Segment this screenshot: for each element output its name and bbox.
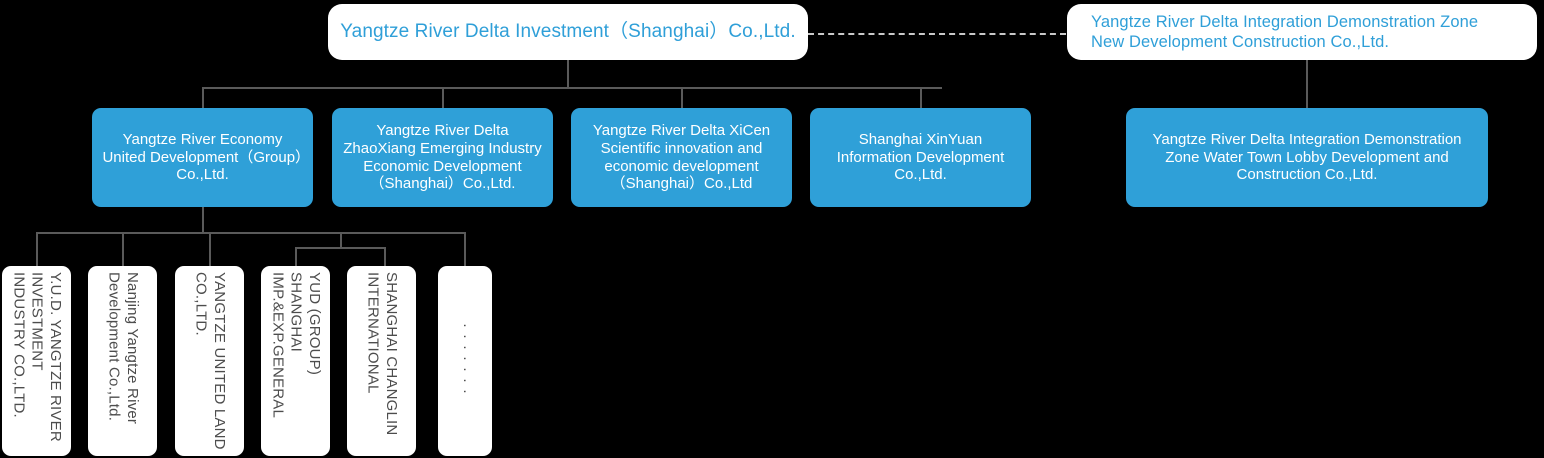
connector-drop-level2-2 [442, 87, 444, 108]
level3-node-more-ellipsis[interactable]: ······· [438, 266, 492, 456]
level2-node-shanghai-xinyuan-information[interactable]: Shanghai XinYuan Information Development… [810, 108, 1031, 207]
root-node-yangtze-river-delta-investment[interactable]: Yangtze River Delta Investment（Shanghai）… [328, 4, 808, 60]
root-node-label: Yangtze River Delta Investment（Shanghai）… [340, 21, 795, 43]
connector-drop-level3-1 [36, 232, 38, 266]
connector-drop-level3-5 [384, 247, 386, 266]
vertical-ellipsis-icon: ······· [456, 323, 474, 400]
connector-affiliate-to-child [1306, 60, 1308, 108]
connector-root-stem [567, 60, 569, 88]
level3-node-yud-yangtze-river-investment-industry[interactable]: Y.U.D. YANGTZE RIVER INVESTMENT INDUSTRY… [2, 266, 71, 456]
level2-node-zhaoxiang-emerging-industry[interactable]: Yangtze River Delta ZhaoXiang Emerging I… [332, 108, 553, 207]
connector-drop-level3-6 [464, 232, 466, 266]
connector-drop-level3-3 [209, 232, 211, 266]
level2-node-label: Yangtze River Economy United Development… [102, 131, 303, 184]
connector-level2-bus [202, 87, 942, 89]
level3-node-yud-group-shanghai-imp-exp-general[interactable]: YUD (GROUP) SHANGHAI IMP.&EXP.GENERAL [261, 266, 330, 456]
level3-node-label: YANGTZE UNITED LAND CO.,LTD. [191, 266, 228, 450]
level2-node-xicen-scientific-innovation[interactable]: Yangtze River Delta XiCen Scientific inn… [571, 108, 792, 207]
level2-node-label: Shanghai XinYuan Information Development… [820, 131, 1021, 184]
affiliate-node-new-development-construction[interactable]: Yangtze River Delta Integration Demonstr… [1067, 4, 1537, 60]
level2-node-label: Yangtze River Delta ZhaoXiang Emerging I… [340, 122, 545, 193]
level2-node-label: Yangtze River Delta Integration Demonstr… [1140, 131, 1474, 184]
connector-drop-level2-3 [681, 87, 683, 108]
level2-node-water-town-lobby-development[interactable]: Yangtze River Delta Integration Demonstr… [1126, 108, 1488, 207]
level3-node-label: Y.U.D. YANGTZE RIVER INVESTMENT INDUSTRY… [9, 266, 64, 450]
level3-node-label: YUD (GROUP) SHANGHAI IMP.&EXP.GENERAL [268, 266, 323, 450]
level3-node-yangtze-united-land[interactable]: YANGTZE UNITED LAND CO.,LTD. [175, 266, 244, 456]
connector-level3-sub-stem [340, 232, 342, 247]
level3-node-label: Nanjing Yangtze River Development Co.,Lt… [104, 266, 141, 450]
connector-level2-1-stem [202, 207, 204, 233]
org-chart-canvas: Yangtze River Delta Investment（Shanghai）… [0, 0, 1544, 458]
connector-drop-level3-4 [295, 247, 297, 266]
connector-level3-bus [36, 232, 465, 234]
connector-drop-level3-2 [122, 232, 124, 266]
affiliate-node-label: Yangtze River Delta Integration Demonstr… [1091, 12, 1513, 53]
connector-level3-sub-bus [295, 247, 385, 249]
level3-node-nanjing-yangtze-river-development[interactable]: Nanjing Yangtze River Development Co.,Lt… [88, 266, 157, 456]
level3-node-shanghai-changlin-international[interactable]: SHANGHAI CHANGLIN INTERNATIONAL [347, 266, 416, 456]
connector-drop-level2-1 [202, 87, 204, 108]
connector-drop-level2-4 [920, 87, 922, 108]
dashed-connector-root-to-affiliate [808, 33, 1066, 35]
level2-node-yangtze-river-economy-united-development[interactable]: Yangtze River Economy United Development… [92, 108, 313, 207]
level2-node-label: Yangtze River Delta XiCen Scientific inn… [579, 122, 784, 193]
level3-node-label: SHANGHAI CHANGLIN INTERNATIONAL [363, 266, 400, 450]
